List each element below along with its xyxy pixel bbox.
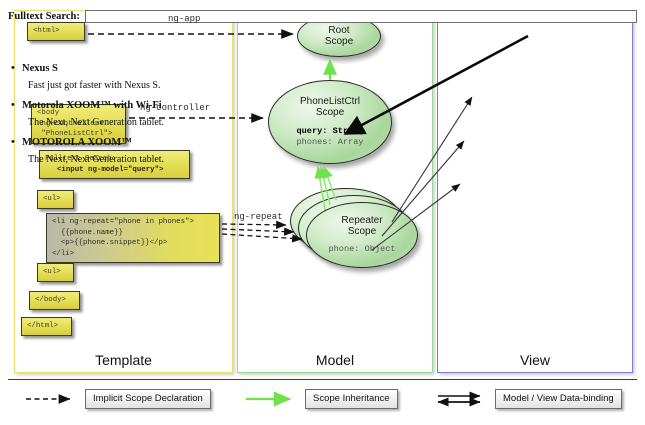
phone-snippet: The Next, Next Generation tablet. (28, 117, 637, 128)
legend-divider (8, 379, 637, 380)
view-rendered-output: Fulltext Search: Nexus S Fast just got f… (8, 10, 637, 174)
legend-model-view-data-binding-label: Model / View Data-binding (495, 389, 622, 409)
diagram-canvas: Template Model View <html> <body ng-cont… (0, 0, 645, 425)
scope-repeater: Repeater Scope phone: Object (306, 202, 418, 268)
legend-green-arrow-icon (244, 390, 298, 408)
legend-double-arrow-icon (434, 390, 488, 408)
edge-label-ng-controller: ng-controller (140, 103, 210, 113)
scope-repeater-title: Repeater Scope (341, 215, 382, 237)
phone-snippet: The Next, Next Generation tablet. (28, 154, 637, 165)
list-item: Motorola XOOM™ with Wi-Fi The Next, Next… (22, 100, 637, 128)
legend-implicit-scope-declaration: Implicit Scope Declaration (24, 389, 211, 409)
legend-dashed-arrow-icon (24, 390, 78, 408)
list-item: Nexus S Fast just got faster with Nexus … (22, 63, 637, 91)
list-item: MOTOROLA XOOM™ The Next, Next Generation… (22, 137, 637, 165)
code-box-ul-open: <ul> (37, 190, 74, 209)
view-search-label: Fulltext Search: (8, 11, 80, 22)
panel-view-label: View (438, 352, 632, 368)
phone-name: MOTOROLA XOOM™ (22, 137, 637, 148)
panel-model-label: Model (238, 352, 432, 368)
legend-model-view-data-binding: Model / View Data-binding (434, 389, 622, 409)
legend-implicit-scope-declaration-label: Implicit Scope Declaration (85, 389, 211, 409)
view-phone-list: Nexus S Fast just got faster with Nexus … (8, 63, 637, 165)
legend-scope-inheritance-label: Scope Inheritance (305, 389, 398, 409)
phone-name: Nexus S (22, 63, 637, 74)
edge-label-ng-app: ng-app (168, 14, 200, 24)
view-search-row: Fulltext Search: (8, 10, 637, 23)
panel-template-label: Template (15, 352, 232, 368)
code-box-li-ng-repeat: <li ng-repeat="phone in phones"> {{phone… (46, 213, 220, 263)
code-box-html-close: </html> (21, 317, 72, 336)
code-box-ul-close: <ul> (37, 263, 74, 282)
phone-name: Motorola XOOM™ with Wi-Fi (22, 100, 637, 111)
edge-label-ng-repeat: ng-repeat (234, 212, 283, 222)
scope-repeater-props: phone: Object (328, 244, 395, 255)
code-box-body-close: </body> (29, 291, 80, 310)
legend-scope-inheritance: Scope Inheritance (244, 389, 398, 409)
phone-snippet: Fast just got faster with Nexus S. (28, 80, 637, 91)
